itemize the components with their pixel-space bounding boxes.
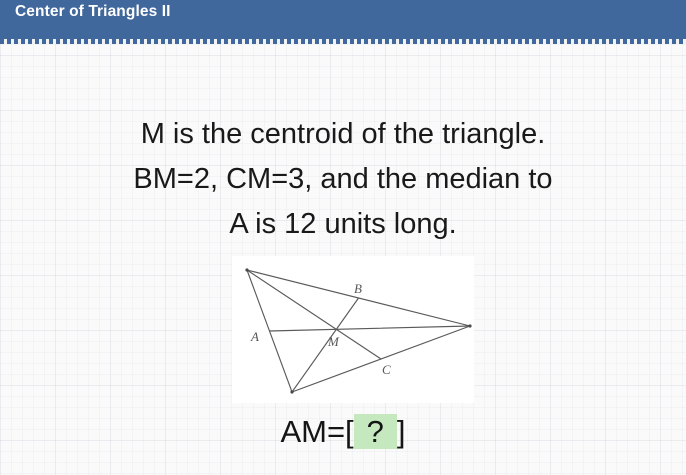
problem-statement-line-3: A is 12 units long. bbox=[0, 202, 686, 247]
vertex-dot-bottom bbox=[290, 390, 293, 393]
answer-blank-field[interactable]: ? bbox=[354, 414, 397, 449]
problem-statement-line-1: M is the centroid of the triangle. bbox=[0, 112, 686, 157]
answer-prompt: AM=[?] bbox=[0, 414, 686, 450]
triangle-centroid-diagram: A B C M bbox=[232, 256, 474, 403]
label-b: B bbox=[354, 281, 362, 296]
vertex-dot-top-left bbox=[245, 268, 248, 271]
answer-prefix: AM= bbox=[280, 414, 345, 449]
median-to-b bbox=[292, 298, 359, 392]
label-m-centroid: M bbox=[327, 334, 340, 349]
label-c: C bbox=[382, 362, 391, 377]
answer-bracket-open: [ bbox=[345, 414, 354, 449]
problem-statement-line-2: BM=2, CM=3, and the median to bbox=[0, 157, 686, 202]
header-dashed-divider bbox=[0, 39, 686, 44]
page-title: Center of Triangles II bbox=[15, 3, 171, 21]
triangle-figure-panel: A B C M bbox=[232, 256, 474, 403]
header-bar: Center of Triangles II bbox=[0, 0, 686, 39]
slide-canvas: Center of Triangles II M is the centroid… bbox=[0, 0, 686, 475]
problem-statement: M is the centroid of the triangle. BM=2,… bbox=[0, 112, 686, 247]
vertex-dot-right bbox=[468, 324, 471, 327]
label-a: A bbox=[250, 329, 259, 344]
answer-bracket-close: ] bbox=[397, 414, 406, 449]
median-to-a bbox=[270, 326, 471, 331]
